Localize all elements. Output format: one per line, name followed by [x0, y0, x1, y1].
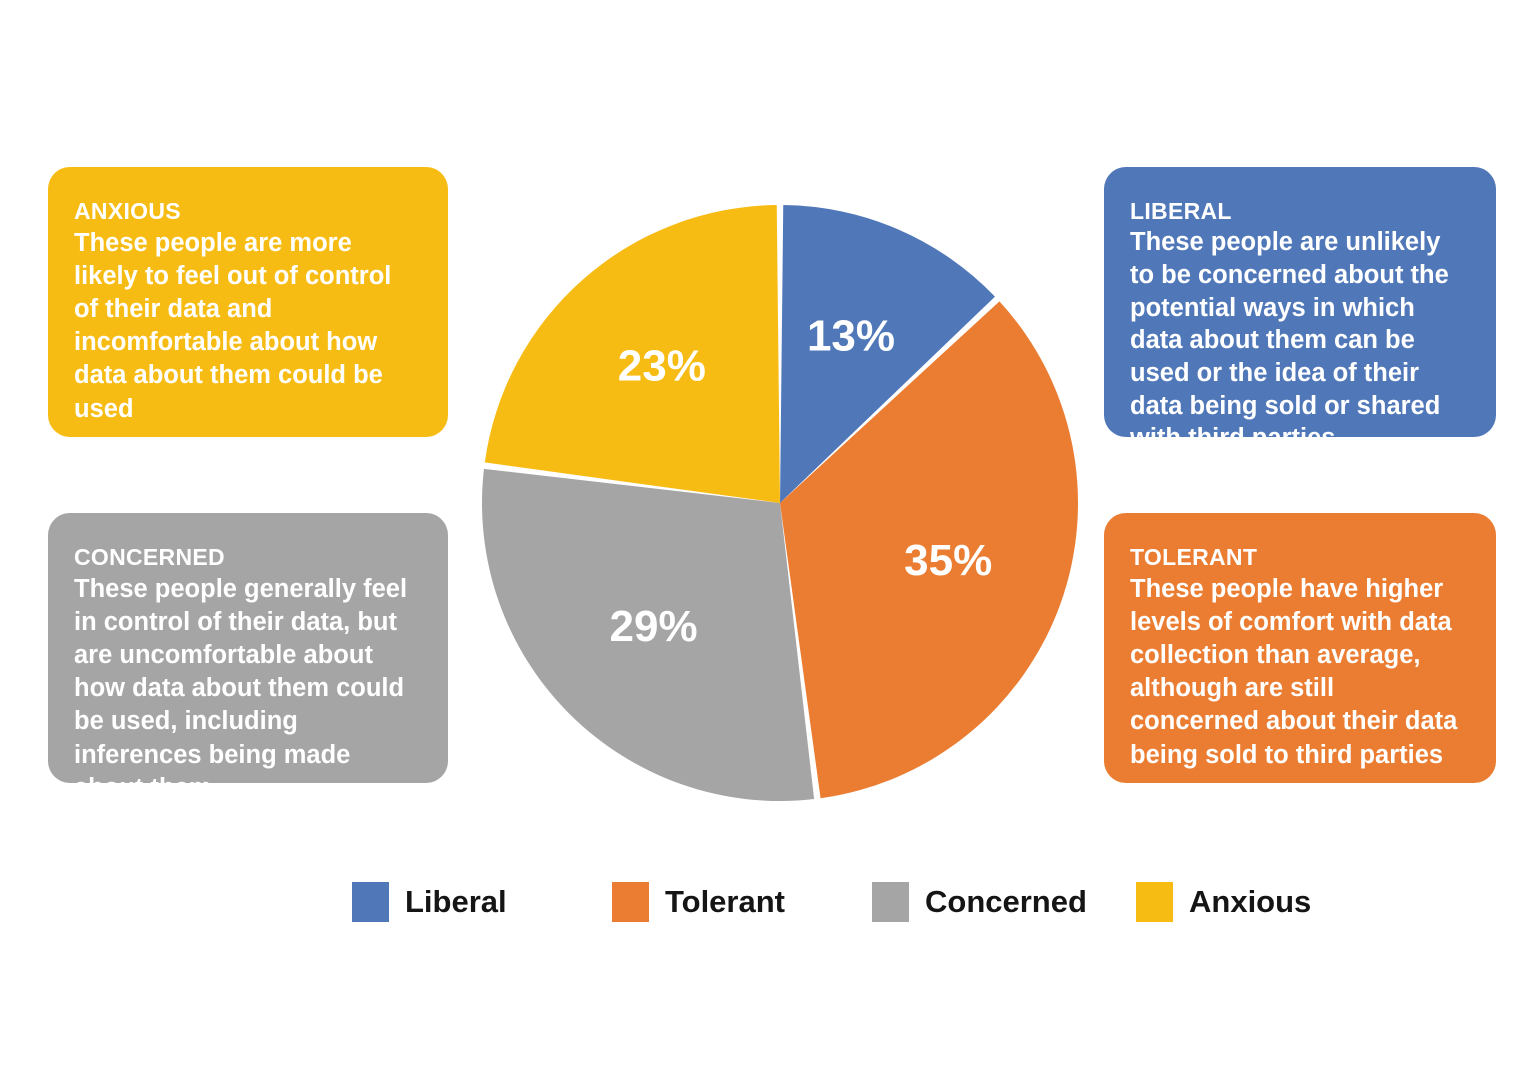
legend-item-tolerant[interactable]: Tolerant: [612, 878, 785, 926]
legend-label: Concerned: [925, 884, 1087, 920]
card-concerned-title: CONCERNED: [74, 543, 422, 573]
card-tolerant-title: TOLERANT: [1130, 543, 1470, 573]
legend-item-liberal[interactable]: Liberal: [352, 878, 507, 926]
legend-swatch-icon: [872, 882, 909, 922]
legend-swatch-icon: [1136, 882, 1173, 922]
legend-label: Tolerant: [665, 884, 785, 920]
card-liberal-body: These people are unlikely to be concerne…: [1130, 226, 1470, 454]
legend-swatch-icon: [352, 882, 389, 922]
pie-chart-svg: 13%35%29%23%: [470, 193, 1090, 813]
legend-label: Liberal: [405, 884, 507, 920]
pie-slice-label-anxious: 23%: [618, 342, 706, 391]
card-tolerant-body: These people have higher levels of comfo…: [1130, 573, 1470, 772]
card-anxious-title: ANXIOUS: [74, 197, 422, 227]
legend-item-anxious[interactable]: Anxious: [1136, 878, 1311, 926]
pie-chart: 13%35%29%23%: [470, 193, 1090, 813]
card-anxious-body: These people are more likely to feel out…: [74, 227, 422, 426]
pie-slice-group: [482, 205, 1078, 801]
card-concerned: CONCERNED These people generally feel in…: [48, 513, 448, 783]
pie-slice-label-liberal: 13%: [807, 312, 895, 361]
card-tolerant: TOLERANT These people have higher levels…: [1104, 513, 1496, 783]
chart-legend: Liberal Tolerant Concerned Anxious: [352, 878, 1282, 926]
legend-item-concerned[interactable]: Concerned: [872, 878, 1087, 926]
pie-slice-label-concerned: 29%: [610, 602, 698, 651]
card-anxious: ANXIOUS These people are more likely to …: [48, 167, 448, 437]
legend-label: Anxious: [1189, 884, 1311, 920]
legend-swatch-icon: [612, 882, 649, 922]
card-liberal-title: LIBERAL: [1130, 197, 1470, 226]
card-liberal: LIBERAL These people are unlikely to be …: [1104, 167, 1496, 437]
pie-chart-infographic: ANXIOUS These people are more likely to …: [0, 0, 1536, 1086]
card-concerned-body: These people generally feel in control o…: [74, 573, 422, 805]
pie-slice-label-tolerant: 35%: [904, 536, 992, 585]
